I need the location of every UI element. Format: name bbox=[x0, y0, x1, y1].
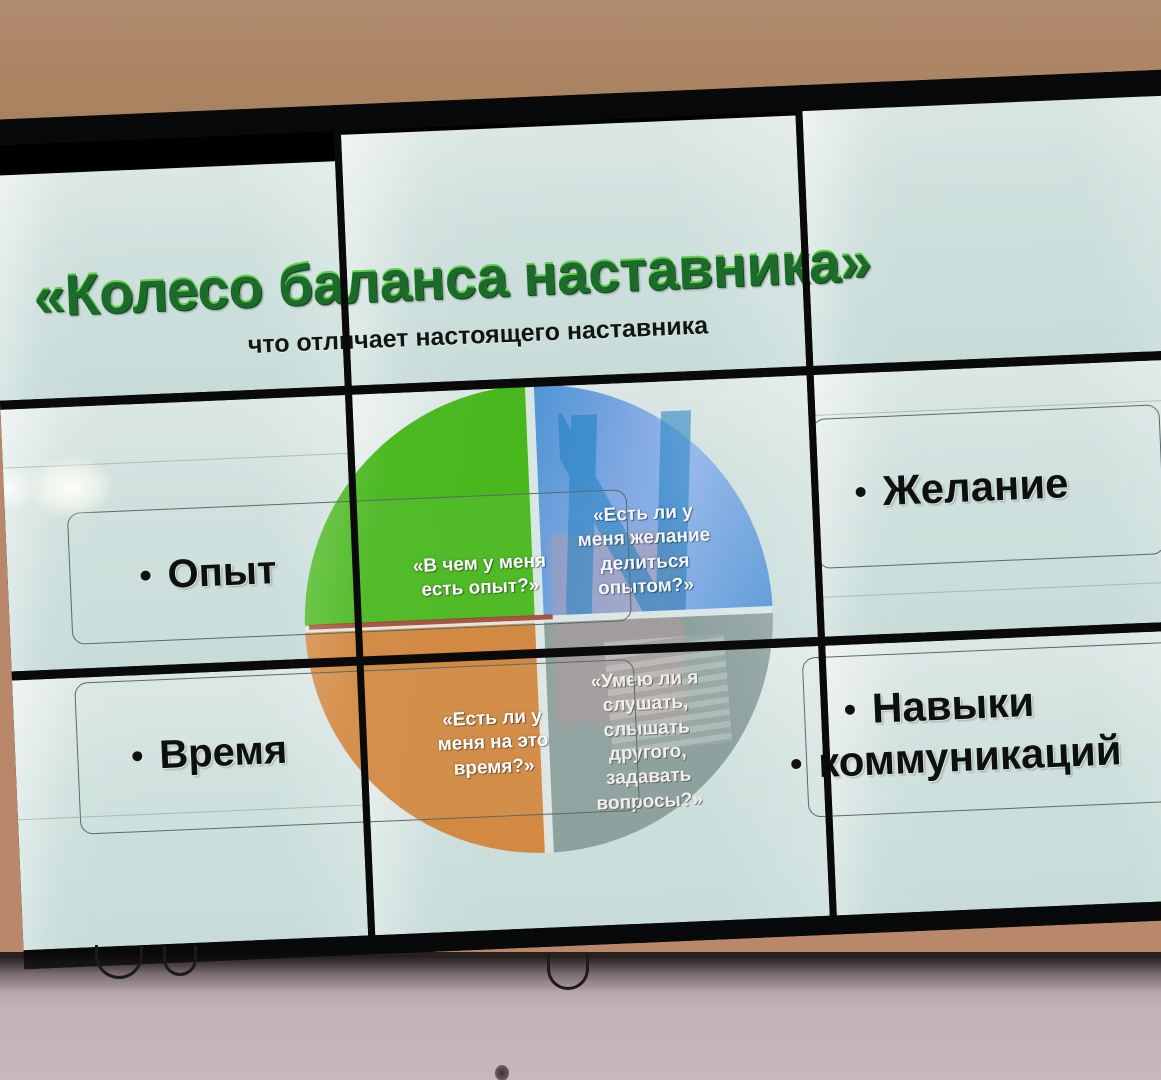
bullet-icon bbox=[140, 570, 150, 580]
legend-label-opyt: Опыт bbox=[167, 548, 278, 598]
bullet-icon bbox=[855, 487, 865, 497]
legend-label-navyki-line1: Навыки bbox=[871, 678, 1035, 733]
legend-label-zhelanie: Желание bbox=[882, 459, 1070, 515]
legend-label-navyki-line2: коммуникаций bbox=[817, 726, 1122, 787]
legend-label-vremya: Время bbox=[158, 727, 288, 777]
legend-box-navyki: Навыки коммуникаций bbox=[802, 642, 1161, 818]
bullet-icon-secondary bbox=[791, 759, 801, 769]
video-wall: «Колесо баланса наставника» что отличает… bbox=[0, 69, 1161, 969]
legend-box-zhelanie: Желание bbox=[812, 404, 1161, 569]
photo-of-video-wall: «Колесо баланса наставника» что отличает… bbox=[0, 0, 1161, 1080]
presentation-slide: «Колесо баланса наставника» что отличает… bbox=[0, 69, 1161, 969]
bullet-icon bbox=[132, 751, 142, 761]
bullet-icon bbox=[845, 704, 855, 714]
